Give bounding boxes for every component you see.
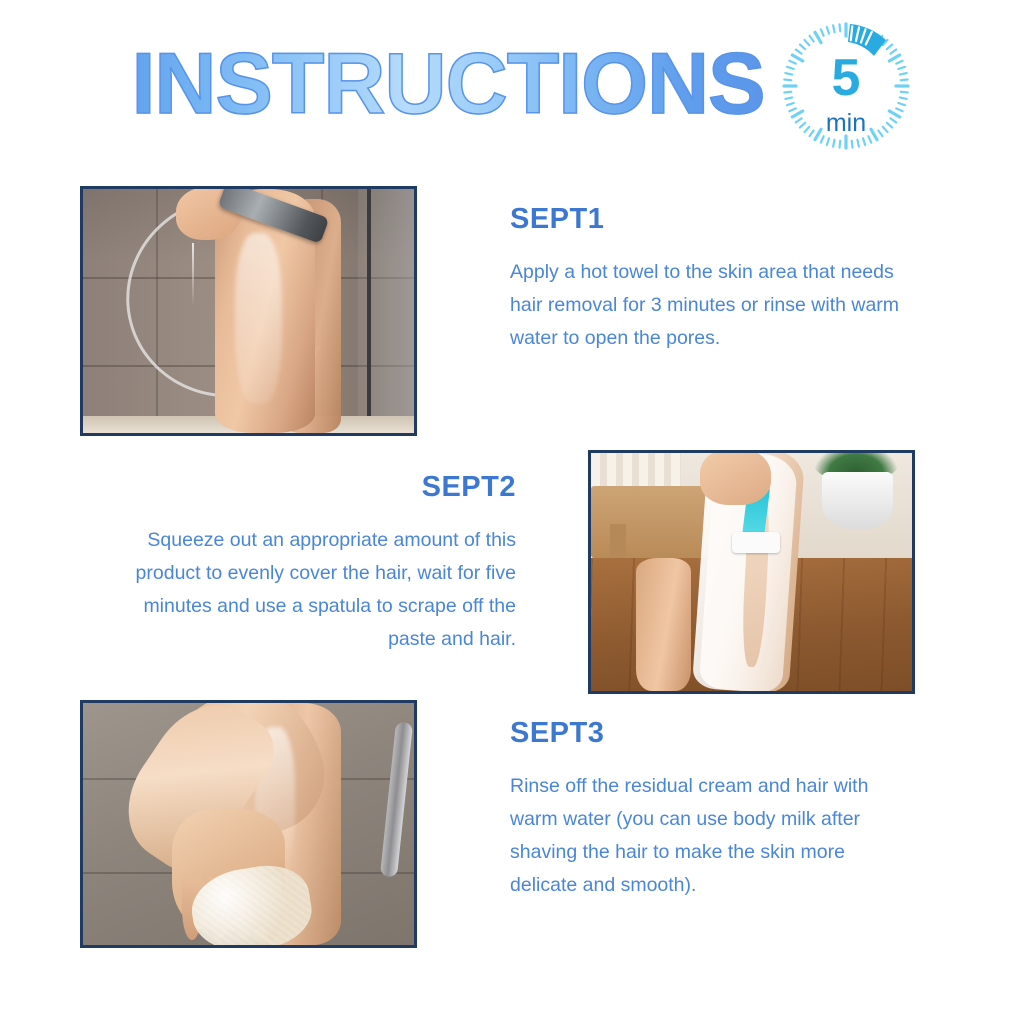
timer-badge: 5 min	[778, 12, 914, 164]
step-row-1: SEPT1 Apply a hot towel to the skin area…	[0, 186, 1024, 436]
step-row-2: SEPT2 Squeeze out an appropriate amount …	[0, 450, 1024, 694]
step-2-body: Squeeze out an appropriate amount of thi…	[112, 524, 516, 656]
timer-value: 5	[778, 52, 914, 104]
step-2-text-block: SEPT2 Squeeze out an appropriate amount …	[112, 470, 516, 656]
step-3-body: Rinse off the residual cream and hair wi…	[510, 770, 910, 902]
step-3-title: SEPT3	[510, 716, 910, 750]
step-1-body: Apply a hot towel to the skin area that …	[510, 256, 910, 355]
step-2-photo	[588, 450, 915, 694]
page-header: INSTRUCTIONS 5 min	[0, 0, 1024, 180]
loofah-wash-illustration	[83, 703, 414, 945]
step-3-text-block: SEPT3 Rinse off the residual cream and h…	[510, 716, 910, 902]
shower-rinse-illustration	[83, 189, 414, 433]
step-1-photo	[80, 186, 417, 436]
step-row-3: SEPT3 Rinse off the residual cream and h…	[0, 700, 1024, 948]
instructions-page: INSTRUCTIONS 5 min	[0, 0, 1024, 1024]
page-title: INSTRUCTIONS	[112, 34, 784, 134]
timer-unit: min	[778, 110, 914, 136]
step-3-photo	[80, 700, 417, 948]
step-2-title: SEPT2	[112, 470, 516, 504]
shaving-cream-illustration	[591, 453, 912, 691]
step-1-text-block: SEPT1 Apply a hot towel to the skin area…	[510, 202, 910, 355]
step-1-title: SEPT1	[510, 202, 910, 236]
